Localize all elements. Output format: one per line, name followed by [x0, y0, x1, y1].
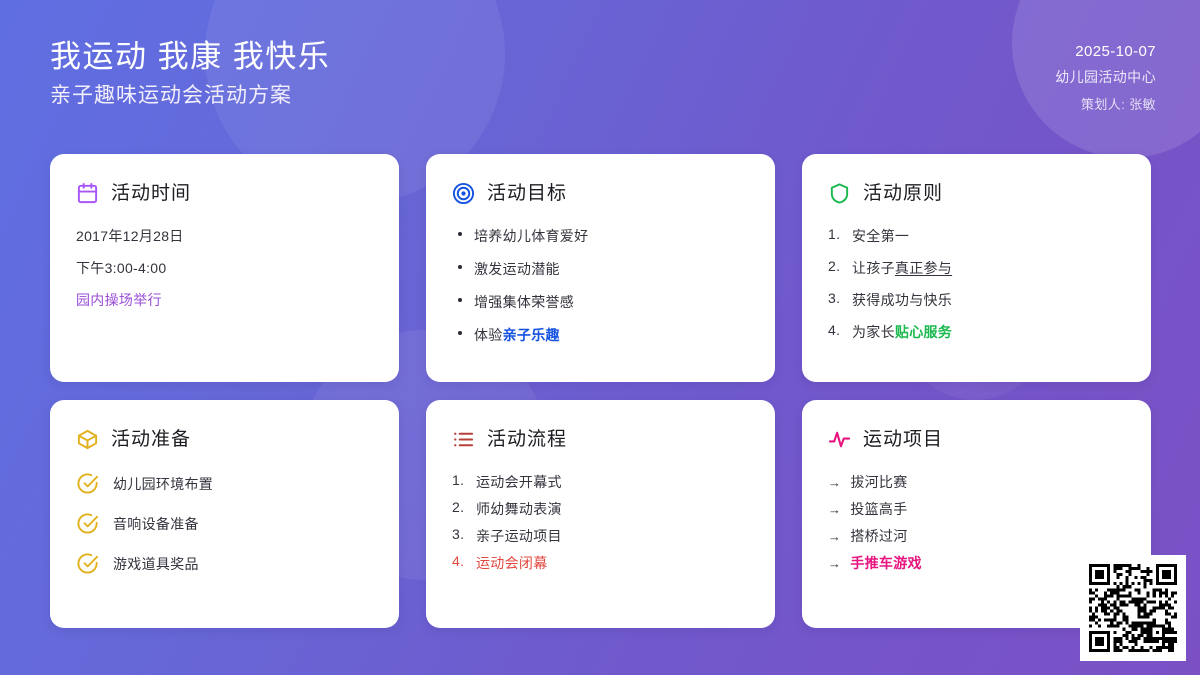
- list-item: → 搭桥过河: [828, 526, 1125, 546]
- target-icon: [452, 182, 475, 205]
- slide-canvas: 我运动 我康 我快乐 亲子趣味运动会活动方案 2025-10-07 幼儿园活动中…: [0, 0, 1200, 675]
- card-title: 活动时间: [111, 184, 191, 203]
- principle-highlight: 真正参与: [895, 260, 952, 276]
- arrow-right-icon: →: [828, 502, 841, 517]
- header-left: 我运动 我康 我快乐 亲子趣味运动会活动方案: [50, 40, 330, 107]
- card-title: 活动流程: [487, 430, 567, 449]
- list-item: 游戏道具奖品: [76, 552, 373, 575]
- check-circle-icon: [76, 512, 99, 535]
- card-header: 活动准备: [76, 428, 373, 451]
- list-item: 激发运动潜能: [452, 259, 749, 279]
- activity-pulse-icon: [828, 428, 851, 451]
- prepare-list: 幼儿园环境布置 音响设备准备 游戏道具奖品: [76, 472, 373, 575]
- event-date: 2017年12月28日: [76, 226, 373, 246]
- arrow-right-icon: →: [828, 556, 841, 571]
- list-item: 让孩子真正参与: [828, 258, 1125, 278]
- list-item: 音响设备准备: [76, 512, 373, 535]
- card-activity-prepare[interactable]: 活动准备 幼儿园环境布置 音响设备准备: [50, 400, 399, 628]
- list-item: 为家长贴心服务: [828, 322, 1125, 342]
- flow-text: 运动会闭幕: [476, 555, 548, 571]
- list-item: → 拔河比赛: [828, 472, 1125, 492]
- header-meta: 2025-10-07 幼儿园活动中心 策划人: 张敏: [1055, 40, 1156, 113]
- sport-text: 投篮高手: [850, 499, 907, 519]
- list-item: 安全第一: [828, 226, 1125, 246]
- calendar-icon: [76, 182, 99, 205]
- card-header: 运动项目: [828, 428, 1125, 451]
- check-circle-icon: [76, 552, 99, 575]
- flow-list: 运动会开幕式 师幼舞动表演 亲子运动项目 运动会闭幕: [452, 472, 749, 573]
- slide-header: 我运动 我康 我快乐 亲子趣味运动会活动方案 2025-10-07 幼儿园活动中…: [50, 40, 1156, 136]
- card-title: 活动准备: [111, 430, 191, 449]
- goal-highlight: 亲子乐趣: [503, 327, 560, 343]
- check-circle-icon: [76, 472, 99, 495]
- list-icon: [452, 428, 475, 451]
- package-icon: [76, 428, 99, 451]
- sport-text: 拔河比赛: [850, 472, 907, 492]
- goal-text: 激发运动潜能: [474, 261, 560, 277]
- principle-text: 获得成功与快乐: [852, 292, 952, 308]
- list-item: 体验亲子乐趣: [452, 325, 749, 345]
- qr-code-panel[interactable]: [1080, 555, 1186, 661]
- goal-text: 培养幼儿体育爱好: [474, 228, 588, 244]
- header-date: 2025-10-07: [1075, 43, 1156, 60]
- arrow-right-icon: →: [828, 475, 841, 490]
- qr-code: [1089, 564, 1177, 652]
- card-header: 活动流程: [452, 428, 749, 451]
- card-title: 运动项目: [863, 430, 943, 449]
- principle-highlight: 贴心服务: [895, 324, 952, 340]
- list-item: 亲子运动项目: [452, 526, 749, 546]
- list-item: 师幼舞动表演: [452, 499, 749, 519]
- list-item: 增强集体荣誉感: [452, 292, 749, 312]
- sport-highlight: 手推车游戏: [850, 553, 922, 573]
- flow-text: 师幼舞动表演: [476, 501, 562, 517]
- principle-text: 安全第一: [852, 228, 909, 244]
- principle-text: 为家长: [852, 324, 895, 340]
- goal-list: 培养幼儿体育爱好 激发运动潜能 增强集体荣誉感 体验亲子乐趣: [452, 226, 749, 345]
- prepare-text: 音响设备准备: [113, 514, 199, 534]
- goal-text: 增强集体荣誉感: [474, 294, 574, 310]
- card-header: 活动目标: [452, 182, 749, 205]
- event-location: 园内操场举行: [76, 290, 373, 310]
- time-detail-list: 2017年12月28日 下午3:00-4:00 园内操场举行: [76, 226, 373, 310]
- sport-text: 搭桥过河: [850, 526, 907, 546]
- prepare-text: 幼儿园环境布置: [113, 474, 213, 494]
- principle-text: 让孩子: [852, 260, 895, 276]
- card-activity-flow[interactable]: 活动流程 运动会开幕式 师幼舞动表演 亲子运动项目 运动会闭幕: [426, 400, 775, 628]
- card-grid: 活动时间 2017年12月28日 下午3:00-4:00 园内操场举行 活动目标…: [50, 154, 1150, 628]
- flow-text: 运动会开幕式: [476, 474, 562, 490]
- principle-list: 安全第一 让孩子真正参与 获得成功与快乐 为家长贴心服务: [828, 226, 1125, 342]
- page-title: 我运动 我康 我快乐: [50, 40, 330, 75]
- list-item: 获得成功与快乐: [828, 290, 1125, 310]
- shield-icon: [828, 182, 851, 205]
- page-subtitle: 亲子趣味运动会活动方案: [50, 84, 330, 108]
- event-time: 下午3:00-4:00: [76, 258, 373, 278]
- card-title: 活动原则: [863, 184, 943, 203]
- card-activity-time[interactable]: 活动时间 2017年12月28日 下午3:00-4:00 园内操场举行: [50, 154, 399, 382]
- list-item: 培养幼儿体育爱好: [452, 226, 749, 246]
- list-item: 幼儿园环境布置: [76, 472, 373, 495]
- flow-text: 亲子运动项目: [476, 528, 562, 544]
- arrow-right-icon: →: [828, 529, 841, 544]
- card-header: 活动时间: [76, 182, 373, 205]
- card-title: 活动目标: [487, 184, 567, 203]
- header-planner: 策划人: 张敏: [1081, 94, 1156, 113]
- list-item: → 投篮高手: [828, 499, 1125, 519]
- prepare-text: 游戏道具奖品: [113, 554, 199, 574]
- list-item: 运动会闭幕: [452, 553, 749, 573]
- header-organization: 幼儿园活动中心: [1055, 67, 1156, 87]
- card-activity-principle[interactable]: 活动原则 安全第一 让孩子真正参与 获得成功与快乐 为家长贴心服务: [802, 154, 1151, 382]
- list-item: 运动会开幕式: [452, 472, 749, 492]
- card-header: 活动原则: [828, 182, 1125, 205]
- card-activity-goal[interactable]: 活动目标 培养幼儿体育爱好 激发运动潜能 增强集体荣誉感 体验亲子乐趣: [426, 154, 775, 382]
- goal-text: 体验: [474, 327, 503, 343]
